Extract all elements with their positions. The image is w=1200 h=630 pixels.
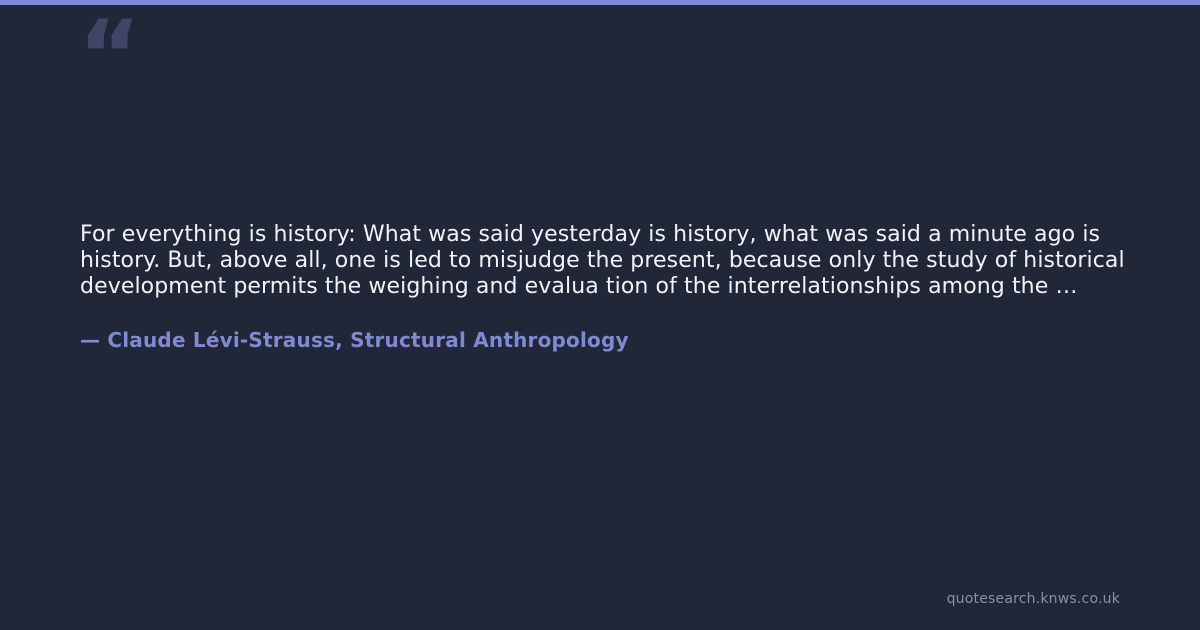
top-accent-bar [0, 0, 1200, 5]
source-url-label: quotesearch.knws.co.uk [947, 590, 1120, 608]
quote-attribution: — Claude Lévi-Strauss, Structural Anthro… [80, 299, 1130, 353]
quote-content: For everything is history: What was said… [80, 222, 1130, 353]
quote-text: For everything is history: What was said… [80, 222, 1130, 299]
quote-card: “ For everything is history: What was sa… [0, 0, 1200, 630]
opening-quote-icon: “ [78, 8, 139, 104]
